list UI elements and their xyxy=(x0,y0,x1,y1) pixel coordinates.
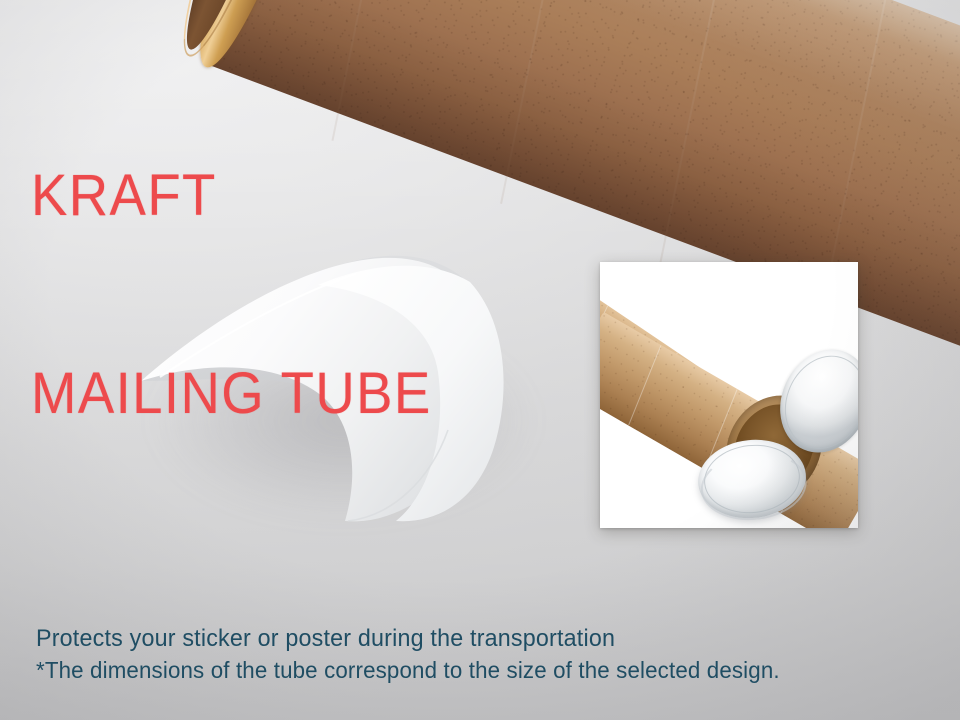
inset-shading xyxy=(600,262,858,528)
feature-description: Protects your sticker or poster during t… xyxy=(36,556,671,720)
footnote-text: *The dimensions of the tube correspond t… xyxy=(36,655,780,685)
feature-line-1: Protects your sticker or poster during t… xyxy=(36,622,671,655)
title-line-1: KRAFT xyxy=(31,163,432,229)
inset-photo-canvas xyxy=(600,262,858,528)
page-title: KRAFT MAILING TUBE xyxy=(31,31,432,559)
product-banner: KRAFT MAILING TUBE Protects your sticker… xyxy=(0,0,960,720)
inset-product-photo xyxy=(600,262,858,528)
title-line-2: MAILING TUBE xyxy=(31,361,432,427)
